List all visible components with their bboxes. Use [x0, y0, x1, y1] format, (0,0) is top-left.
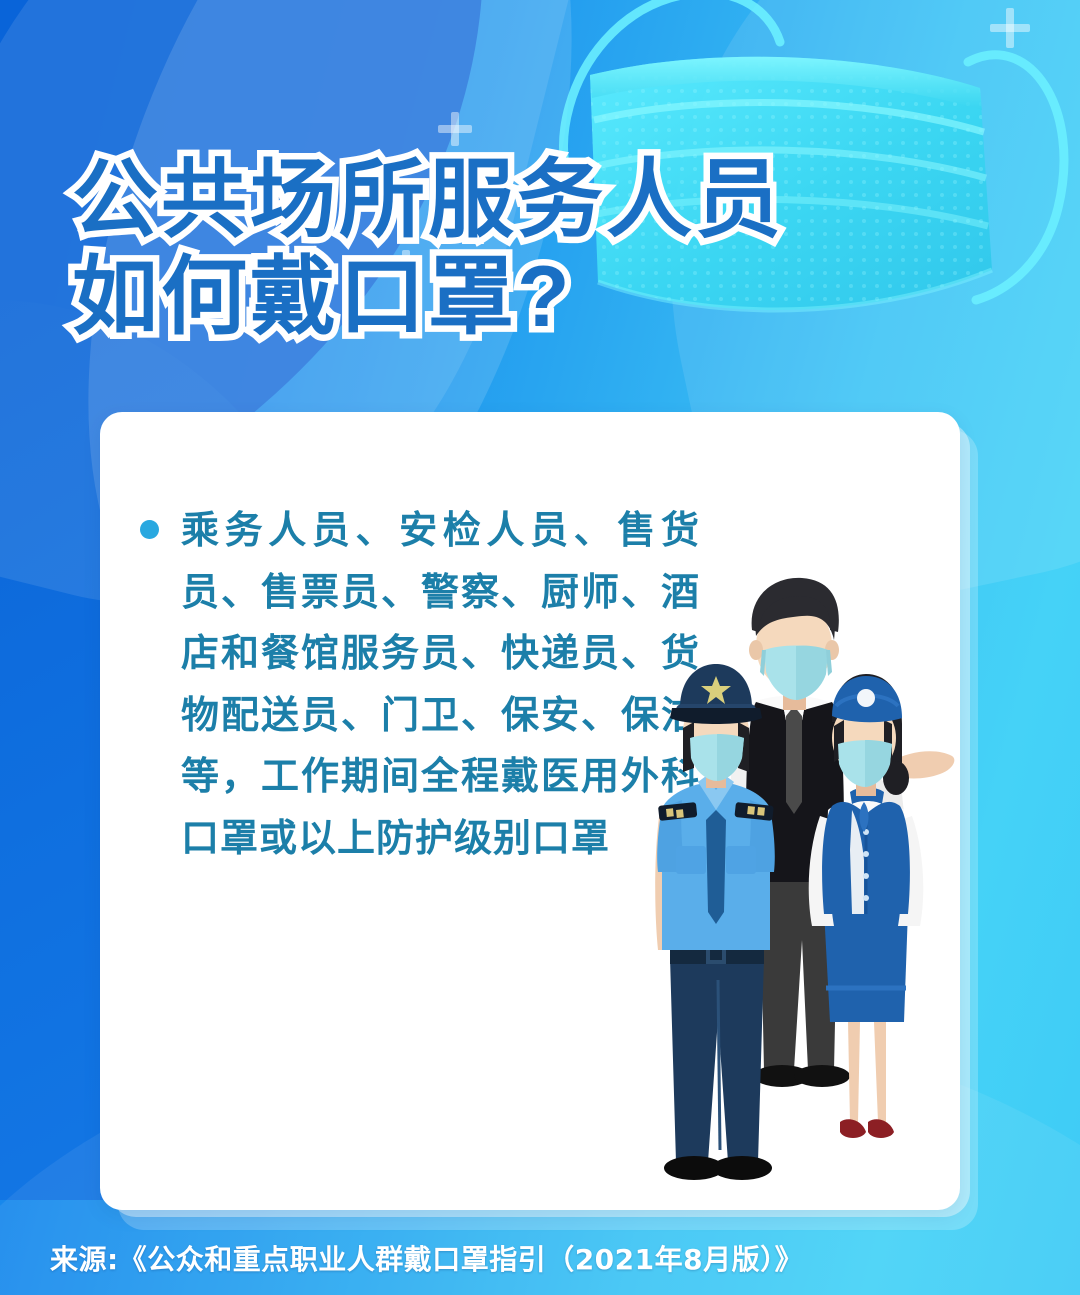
bullet-text: 乘务人员、安检人员、售货员、售票员、警察、厨师、酒店和餐馆服务员、快递员、货物配…: [181, 500, 700, 869]
source-text: 来源:《公众和重点职业人群戴口罩指引（2021年8月版）》: [50, 1238, 803, 1278]
title-line-1: 公共场所服务人员: [72, 150, 784, 251]
infographic-poster: 公共场所服务人员 如何戴口罩? 乘务人员、安检人员、售货员、售票员、警察、厨师、…: [0, 0, 1080, 1295]
people-illustration: [652, 510, 960, 1210]
bullet-dot-icon: [140, 520, 159, 539]
bullet-item: 乘务人员、安检人员、售货员、售票员、警察、厨师、酒店和餐馆服务员、快递员、货物配…: [140, 500, 700, 869]
plus-decor-icon-2: [438, 112, 472, 146]
poster-title: 公共场所服务人员 如何戴口罩?: [72, 150, 784, 349]
title-line-2: 如何戴口罩?: [72, 247, 784, 348]
content-card: 乘务人员、安检人员、售货员、售票员、警察、厨师、酒店和餐馆服务员、快递员、货物配…: [100, 412, 960, 1210]
plus-decor-icon: [990, 8, 1030, 48]
